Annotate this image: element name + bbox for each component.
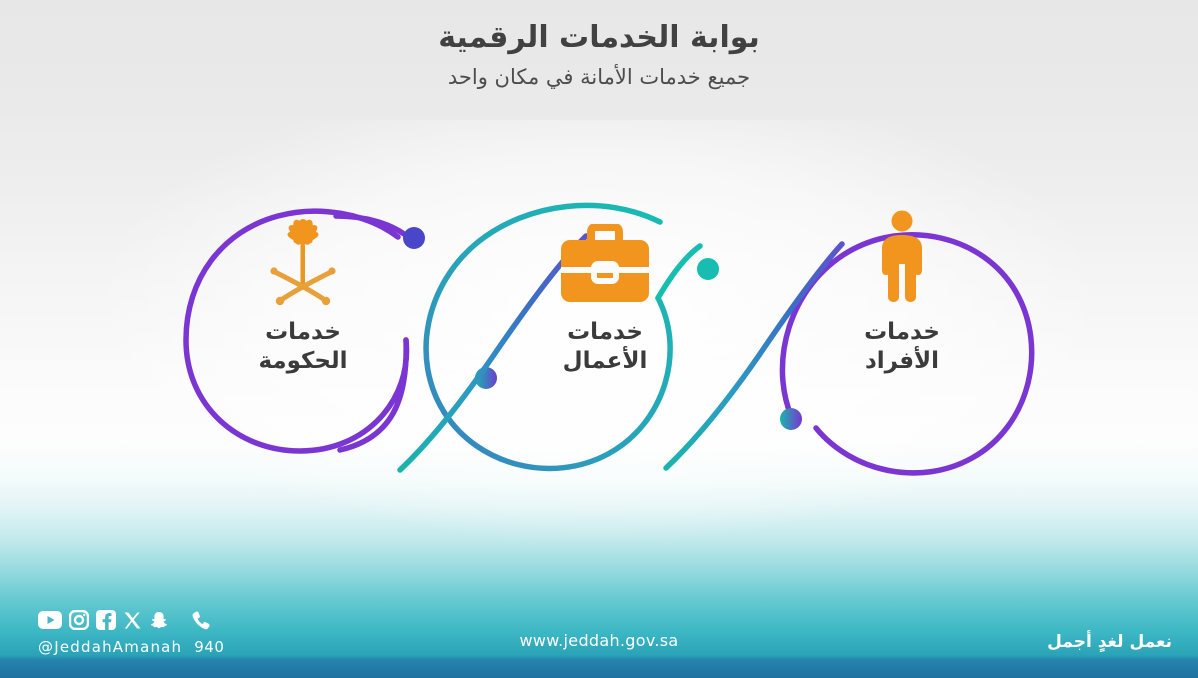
service-node-government[interactable]: خدمات الحكومة (198, 210, 408, 377)
saudi-emblem-icon (198, 210, 408, 306)
label-line-2: الأفراد (797, 347, 1007, 376)
label-line-1: خدمات (864, 319, 940, 345)
youtube-icon[interactable] (38, 611, 62, 633)
header: بوابة الخدمات الرقمية جميع خدمات الأمانة… (0, 18, 1198, 92)
label-line-1: خدمات (265, 319, 341, 345)
label-line-1: خدمات (567, 319, 643, 345)
infographic-poster: بوابة الخدمات الرقمية جميع خدمات الأمانة… (0, 0, 1198, 678)
service-node-label: خدمات الحكومة (198, 318, 408, 377)
service-node-label: خدمات الأعمال (500, 318, 710, 377)
website-url[interactable]: www.jeddah.gov.sa (0, 631, 1198, 650)
label-line-2: الحكومة (198, 347, 408, 376)
footer: @JeddahAmanah 940 www.jeddah.gov.sa نعمل… (0, 588, 1198, 678)
service-node-individuals[interactable]: خدمات الأفراد (797, 210, 1007, 377)
page-subtitle: جميع خدمات الأمانة في مكان واحد (0, 63, 1198, 92)
social-icons (38, 611, 224, 633)
label-line-2: الأعمال (500, 347, 710, 376)
slogan: نعمل لغدٍ أجمل (1047, 632, 1172, 652)
person-icon (797, 210, 1007, 306)
service-node-business[interactable]: خدمات الأعمال (500, 210, 710, 377)
services-diagram: خدمات الحكومة خدمات الأعما (0, 150, 1198, 490)
page-title: بوابة الخدمات الرقمية (0, 18, 1198, 59)
service-node-label: خدمات الأفراد (797, 318, 1007, 377)
briefcase-icon (500, 210, 710, 306)
